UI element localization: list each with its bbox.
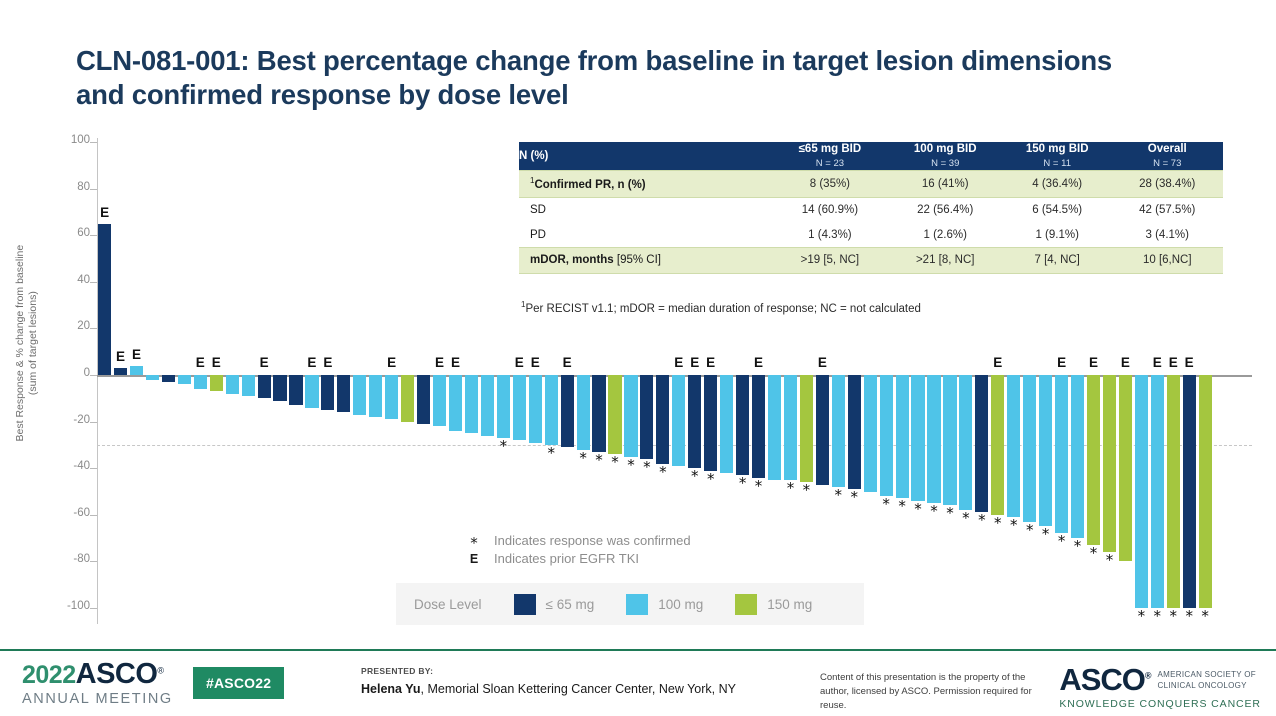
confirmed-response-marker: * xyxy=(749,479,768,494)
waterfall-bar xyxy=(624,375,637,457)
prior-egfr-tki-marker: E xyxy=(1180,356,1199,370)
waterfall-bar xyxy=(481,375,494,436)
waterfall-bar xyxy=(305,375,318,408)
y-axis-tick-label: -40 xyxy=(36,460,90,472)
waterfall-bar xyxy=(768,375,781,480)
waterfall-bar xyxy=(592,375,605,452)
table-cell: 22 (56.4%) xyxy=(888,198,1003,223)
waterfall-bar xyxy=(656,375,669,464)
dose-color-swatch xyxy=(514,594,536,615)
hashtag-badge[interactable]: #ASCO22 xyxy=(193,667,284,699)
waterfall-bar xyxy=(114,368,127,375)
waterfall-bar xyxy=(417,375,430,424)
waterfall-bar xyxy=(752,375,765,478)
table-column-header: 100 mg BIDN = 39 xyxy=(888,142,1003,171)
waterfall-bar xyxy=(832,375,845,487)
asterisk-icon: * xyxy=(463,534,485,552)
waterfall-bar xyxy=(784,375,797,480)
y-axis-tick-label: 0 xyxy=(36,367,90,379)
prior-egfr-tki-marker: E xyxy=(1116,356,1135,370)
waterfall-bar xyxy=(258,375,271,398)
y-axis-tick-mark xyxy=(90,328,97,329)
waterfall-bar xyxy=(1039,375,1052,526)
footnote-text: Per RECIST v1.1; mDOR = median duration … xyxy=(525,303,920,315)
waterfall-bar xyxy=(1135,375,1148,608)
table-cell: >19 [5, NC] xyxy=(772,248,887,273)
y-axis-tick-mark xyxy=(90,282,97,283)
waterfall-bar xyxy=(720,375,733,473)
dose-color-swatch xyxy=(626,594,648,615)
response-summary-table: N (%)≤65 mg BIDN = 23100 mg BIDN = 39150… xyxy=(519,142,1223,274)
confirmed-response-marker: * xyxy=(845,490,864,505)
prior-egfr-tki-marker: E xyxy=(558,356,577,370)
table-cell: 42 (57.5%) xyxy=(1112,198,1223,223)
waterfall-bar xyxy=(353,375,366,415)
waterfall-bar xyxy=(1023,375,1036,522)
asco-logo-text: ASCO® xyxy=(1059,665,1150,694)
waterfall-bar xyxy=(577,375,590,450)
row-label-suffix: [95% CI] xyxy=(614,254,661,266)
waterfall-bar xyxy=(1071,375,1084,538)
confirmed-response-marker: * xyxy=(701,472,720,487)
y-axis-tick-label: 100 xyxy=(36,134,90,146)
waterfall-bar xyxy=(864,375,877,492)
prior-egfr-tki-marker: E xyxy=(382,356,401,370)
prior-egfr-tki-marker: E xyxy=(255,356,274,370)
prior-egfr-tki-marker: E xyxy=(127,348,146,362)
waterfall-bar xyxy=(896,375,909,498)
waterfall-bar xyxy=(704,375,717,471)
y-axis-tick-mark xyxy=(90,189,97,190)
prior-egfr-tki-marker: E xyxy=(1052,356,1071,370)
y-axis-tick-mark xyxy=(90,561,97,562)
asco-logo-tagline: KNOWLEDGE CONQUERS CANCER xyxy=(1059,698,1261,710)
table-cell: 1 (2.6%) xyxy=(888,223,1003,248)
y-axis-tick-mark xyxy=(90,468,97,469)
y-axis-tick-label: 40 xyxy=(36,274,90,286)
prior-egfr-tki-marker: E xyxy=(813,356,832,370)
y-axis-tick-mark xyxy=(90,608,97,609)
prior-egfr-tki-marker: E xyxy=(207,356,226,370)
waterfall-bar xyxy=(848,375,861,489)
prior-egfr-tki-marker: E xyxy=(749,356,768,370)
y-axis-tick-label: 60 xyxy=(36,227,90,239)
asco-logo-subtitle: AMERICAN SOCIETY OF CLINICAL ONCOLOGY xyxy=(1158,670,1256,692)
egfr-marker-icon: E xyxy=(463,552,485,566)
y-axis-tick-label: 80 xyxy=(36,181,90,193)
table-column-subheader: N = 23 xyxy=(772,158,887,170)
table-cell: 3 (4.1%) xyxy=(1112,223,1223,248)
waterfall-bar xyxy=(959,375,972,510)
presented-by-label: PRESENTED BY: xyxy=(361,666,736,676)
footer-year: 2022 xyxy=(22,661,76,689)
waterfall-bar xyxy=(608,375,621,454)
table-cell: 16 (41%) xyxy=(888,171,1003,198)
waterfall-bar xyxy=(337,375,350,412)
table-cell: 1 (4.3%) xyxy=(772,223,887,248)
table-cell: 10 [6,NC] xyxy=(1112,248,1223,273)
waterfall-bar xyxy=(130,366,143,375)
asco-meeting-logo: 2022ASCO® ANNUAL MEETING xyxy=(22,660,173,707)
dose-legend-item[interactable]: ≤ 65 mg xyxy=(514,594,595,615)
y-axis-label: Best Response & % change from baseline (… xyxy=(14,148,40,538)
table-row-label: mDOR, months [95% CI] xyxy=(519,248,772,273)
rights-statement: Content of this presentation is the prop… xyxy=(820,671,1050,712)
waterfall-bar xyxy=(800,375,813,482)
y-axis-tick-mark xyxy=(90,375,97,376)
table-column-subheader: N = 73 xyxy=(1112,158,1223,170)
table-column-header: 150 mg BIDN = 11 xyxy=(1003,142,1112,171)
waterfall-bar xyxy=(162,375,175,382)
prior-egfr-tki-marker: E xyxy=(318,356,337,370)
table-row: 1Confirmed PR, n (%)8 (35%)16 (41%)4 (36… xyxy=(519,171,1223,198)
symbol-legend-text: Indicates prior EGFR TKI xyxy=(494,551,639,566)
symbol-legend-text: Indicates response was confirmed xyxy=(494,533,691,548)
dose-legend-items: ≤ 65 mg100 mg150 mg xyxy=(482,594,813,615)
waterfall-bar xyxy=(1167,375,1180,608)
table-row-label: PD xyxy=(519,223,772,248)
confirmed-response-marker: * xyxy=(1196,609,1215,624)
dose-level-legend: Dose Level ≤ 65 mg100 mg150 mg xyxy=(396,583,864,625)
waterfall-bar xyxy=(497,375,510,438)
waterfall-bar xyxy=(688,375,701,468)
waterfall-bar xyxy=(991,375,1004,515)
prior-egfr-tki-marker: E xyxy=(701,356,720,370)
y-axis-tick-mark xyxy=(90,422,97,423)
waterfall-bar xyxy=(975,375,988,512)
table-column-header: N (%) xyxy=(519,142,772,171)
dose-legend-label: 150 mg xyxy=(767,597,812,612)
dose-legend-title: Dose Level xyxy=(414,597,482,612)
waterfall-bar xyxy=(401,375,414,422)
table-column-header: OverallN = 73 xyxy=(1112,142,1223,171)
waterfall-bar xyxy=(1151,375,1164,608)
waterfall-bar xyxy=(561,375,574,447)
waterfall-bar xyxy=(98,224,111,375)
dose-color-swatch xyxy=(735,594,757,615)
presenter-affiliation: , Memorial Sloan Kettering Cancer Center… xyxy=(421,682,736,696)
dose-legend-label: ≤ 65 mg xyxy=(546,597,595,612)
waterfall-bar xyxy=(242,375,255,396)
prior-egfr-tki-marker: E xyxy=(95,206,114,220)
waterfall-bar xyxy=(433,375,446,426)
waterfall-bar xyxy=(880,375,893,496)
table-column-header: ≤65 mg BIDN = 23 xyxy=(772,142,887,171)
presenter-name: Helena Yu xyxy=(361,682,421,696)
symbol-legend-row: EIndicates prior EGFR TKI xyxy=(463,551,883,566)
waterfall-bar xyxy=(146,375,159,380)
waterfall-bar xyxy=(927,375,940,503)
y-axis-tick-label: -100 xyxy=(36,600,90,612)
waterfall-bar xyxy=(273,375,286,401)
table-column-subheader: N = 11 xyxy=(1003,158,1112,170)
registered-mark-icon: ® xyxy=(157,666,163,676)
waterfall-bar xyxy=(449,375,462,431)
y-axis-tick-mark xyxy=(90,142,97,143)
waterfall-bar xyxy=(1199,375,1212,608)
table-cell: 1 (9.1%) xyxy=(1003,223,1112,248)
waterfall-bar xyxy=(321,375,334,410)
waterfall-bar xyxy=(816,375,829,485)
presenter-block: PRESENTED BY: Helena Yu, Memorial Sloan … xyxy=(361,666,736,696)
y-axis-label-line1: Best Response & % change from baseline xyxy=(14,245,26,442)
waterfall-bar xyxy=(1087,375,1100,545)
dose-legend-label: 100 mg xyxy=(658,597,703,612)
waterfall-bar xyxy=(226,375,239,394)
waterfall-bar xyxy=(465,375,478,433)
waterfall-bar xyxy=(545,375,558,445)
confirmed-response-marker: * xyxy=(653,465,672,480)
dose-legend-item[interactable]: 100 mg xyxy=(626,594,703,615)
dose-legend-item[interactable]: 150 mg xyxy=(735,594,812,615)
symbol-legend: *Indicates response was confirmedEIndica… xyxy=(463,531,883,568)
prior-egfr-tki-marker: E xyxy=(988,356,1007,370)
waterfall-bar xyxy=(1103,375,1116,552)
waterfall-bar xyxy=(736,375,749,475)
waterfall-bar xyxy=(369,375,382,417)
table-header-row: N (%)≤65 mg BIDN = 23100 mg BIDN = 39150… xyxy=(519,142,1223,171)
page-title: CLN-081-001: Best percentage change from… xyxy=(76,44,1146,112)
y-axis-tick-mark xyxy=(90,515,97,516)
waterfall-bar xyxy=(513,375,526,440)
footer-annual-meeting: ANNUAL MEETING xyxy=(22,691,173,707)
confirmed-response-marker: * xyxy=(797,483,816,498)
logo-registered-icon: ® xyxy=(1145,671,1151,681)
prior-egfr-tki-marker: E xyxy=(1084,356,1103,370)
table-row: PD1 (4.3%)1 (2.6%)1 (9.1%)3 (4.1%) xyxy=(519,223,1223,248)
waterfall-bar xyxy=(911,375,924,501)
prior-egfr-tki-marker: E xyxy=(526,356,545,370)
waterfall-bar xyxy=(943,375,956,505)
table-cell: 6 (54.5%) xyxy=(1003,198,1112,223)
table-cell: 8 (35%) xyxy=(772,171,887,198)
table-row: SD14 (60.9%)22 (56.4%)6 (54.5%)42 (57.5%… xyxy=(519,198,1223,223)
symbol-legend-row: *Indicates response was confirmed xyxy=(463,531,883,549)
table-cell: 28 (38.4%) xyxy=(1112,171,1223,198)
y-axis-tick-label: -60 xyxy=(36,507,90,519)
prior-egfr-tki-marker: E xyxy=(446,356,465,370)
waterfall-bar xyxy=(672,375,685,466)
waterfall-bar xyxy=(289,375,302,405)
y-axis-tick-label: -20 xyxy=(36,414,90,426)
y-axis-tick-label: 20 xyxy=(36,320,90,332)
table-body: 1Confirmed PR, n (%)8 (35%)16 (41%)4 (36… xyxy=(519,171,1223,273)
table-cell: 7 [4, NC] xyxy=(1003,248,1112,273)
waterfall-bar xyxy=(1119,375,1132,561)
waterfall-bar xyxy=(1183,375,1196,608)
slide-root: CLN-081-001: Best percentage change from… xyxy=(0,0,1276,716)
table-row-label: 1Confirmed PR, n (%) xyxy=(519,171,772,198)
waterfall-bar xyxy=(640,375,653,459)
confirmed-response-marker: * xyxy=(542,446,561,461)
table-cell: >21 [8, NC] xyxy=(888,248,1003,273)
table-footnote: 1Per RECIST v1.1; mDOR = median duration… xyxy=(521,300,921,315)
y-axis-label-line2: (sum of target lesions) xyxy=(27,291,39,395)
table-row: mDOR, months [95% CI]>19 [5, NC]>21 [8, … xyxy=(519,248,1223,273)
asco-society-logo: ASCO® AMERICAN SOCIETY OF CLINICAL ONCOL… xyxy=(1059,665,1256,694)
table-cell: 14 (60.9%) xyxy=(772,198,887,223)
waterfall-bar xyxy=(210,375,223,391)
table-column-subheader: N = 39 xyxy=(888,158,1003,170)
waterfall-bar xyxy=(178,375,191,384)
waterfall-bar xyxy=(529,375,542,443)
table-row-label: SD xyxy=(519,198,772,223)
slide-footer: 2022ASCO® ANNUAL MEETING #ASCO22 PRESENT… xyxy=(0,649,1276,716)
waterfall-bar xyxy=(1055,375,1068,533)
confirmed-response-marker: * xyxy=(494,439,513,454)
waterfall-bar xyxy=(194,375,207,389)
y-axis-tick-label: -80 xyxy=(36,553,90,565)
table-cell: 4 (36.4%) xyxy=(1003,171,1112,198)
confirmed-response-marker: * xyxy=(1100,553,1119,568)
waterfall-bar xyxy=(1007,375,1020,517)
waterfall-bar xyxy=(385,375,398,419)
footer-asco-word: ASCO xyxy=(76,658,158,690)
y-axis-tick-mark xyxy=(90,235,97,236)
